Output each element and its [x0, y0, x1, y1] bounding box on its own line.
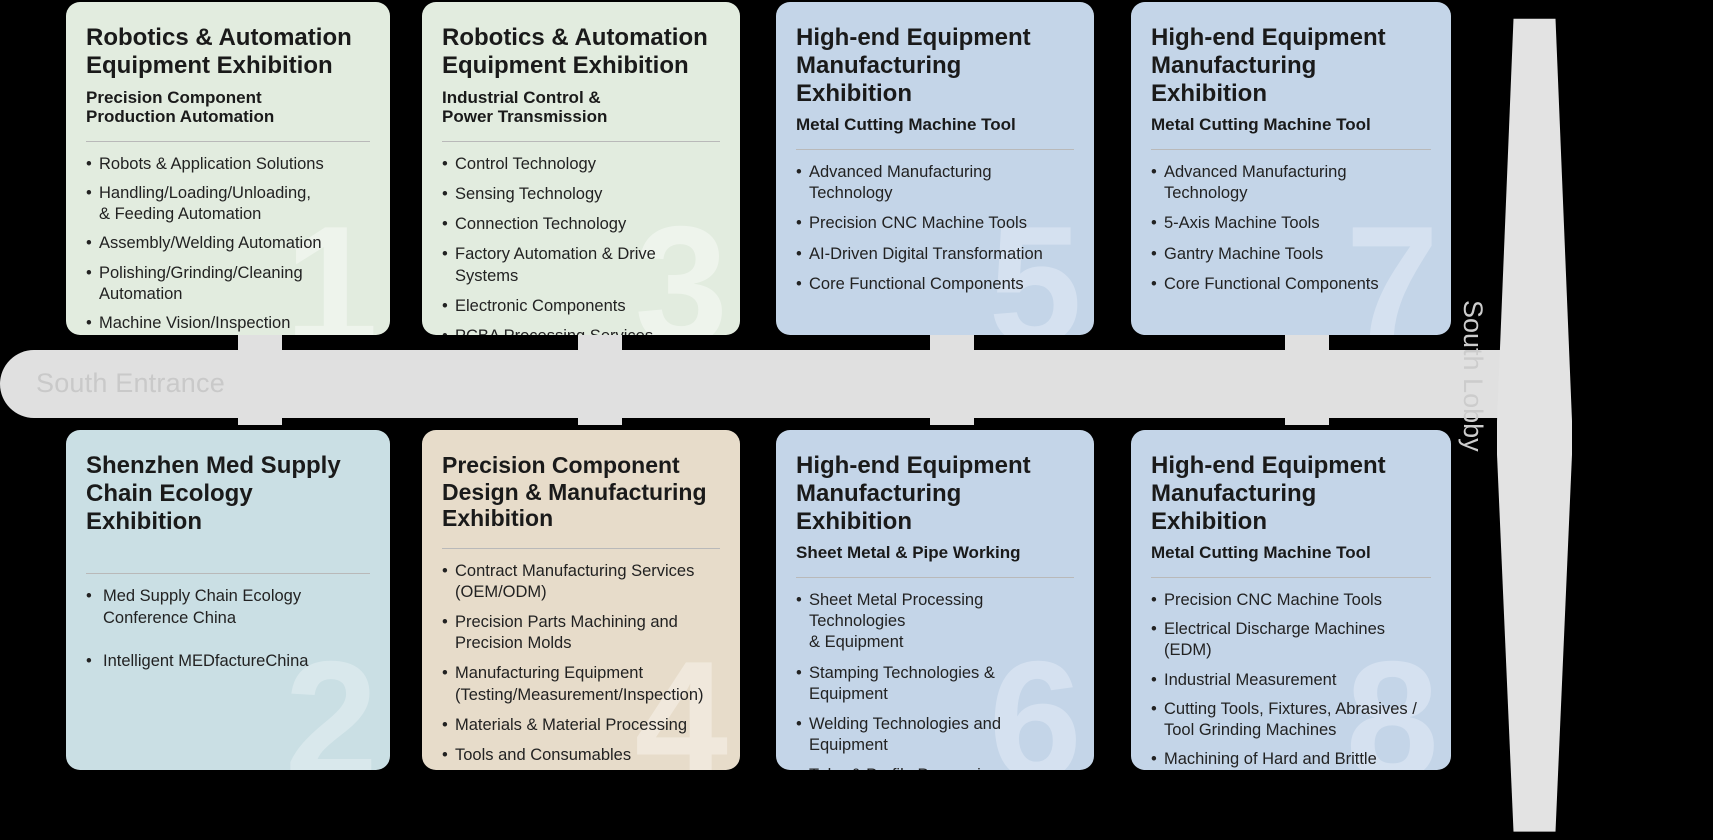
hall-title: Robotics & Automation Equipment Exhibiti…: [442, 24, 720, 80]
list-item: Manufacturing Equipment (Testing/Measure…: [442, 663, 720, 705]
hall-card-3[interactable]: 3 Robotics & Automation Equipment Exhibi…: [422, 2, 740, 335]
list-item: Robots & Application Solutions: [86, 154, 370, 175]
list-item: Electrical Discharge Machines (EDM): [1151, 619, 1431, 661]
hall-title: High-end Equipment Manufacturing Exhibit…: [1151, 24, 1431, 107]
list-item: Control Technology: [442, 154, 720, 175]
hall-card-8[interactable]: 8 High-end Equipment Manufacturing Exhib…: [1131, 430, 1451, 770]
hall-card-6[interactable]: 6 High-end Equipment Manufacturing Exhib…: [776, 430, 1094, 770]
list-item: Industrial Measurement: [1151, 670, 1431, 691]
list-item: Precision Parts Machining and Precision …: [442, 612, 720, 654]
list-item: Advanced Manufacturing Technology: [796, 162, 1074, 204]
list-item: AI-Driven Digital Transformation: [796, 244, 1074, 265]
south-lobby-label: South Lobby: [1457, 300, 1488, 500]
hall-topic-list: Precision CNC Machine Tools Electrical D…: [1151, 590, 1431, 770]
list-item: Polishing/Grinding/Cleaning Automation: [86, 263, 370, 305]
divider: [1151, 149, 1431, 150]
divider: [86, 573, 370, 574]
list-item: Assembly/Welding Automation: [86, 233, 370, 254]
hall-card-1[interactable]: 1 Robotics & Automation Equipment Exhibi…: [66, 2, 390, 335]
list-item: 5-Axis Machine Tools: [1151, 213, 1431, 234]
list-item: Materials & Material Processing: [442, 715, 720, 736]
hall-subtitle: Industrial Control & Power Transmission: [442, 88, 720, 127]
list-item: Tube & Profile Processing: [796, 765, 1074, 770]
hall-card-7[interactable]: 7 High-end Equipment Manufacturing Exhib…: [1131, 2, 1451, 335]
hall-card-2[interactable]: 2 Shenzhen Med Supply Chain Ecology Exhi…: [66, 430, 390, 770]
list-item: Core Functional Components: [1151, 274, 1431, 295]
hall-subtitle: Sheet Metal & Pipe Working: [796, 543, 1074, 563]
hall-topic-list: Med Supply Chain Ecology Conference Chin…: [86, 586, 370, 671]
list-item: Contract Manufacturing Services (OEM/ODM…: [442, 561, 720, 603]
hall-topic-list: Sheet Metal Processing Technologies & Eq…: [796, 590, 1074, 770]
list-item: Electronic Components: [442, 296, 720, 317]
hall-subtitle: Metal Cutting Machine Tool: [1151, 115, 1431, 135]
divider: [796, 149, 1074, 150]
south-entrance-label: South Entrance: [36, 368, 225, 399]
list-item: PCBA Processing Services: [442, 326, 720, 335]
list-item: Handling/Loading/Unloading, & Feeding Au…: [86, 183, 370, 225]
list-item: Factory Automation & Drive Systems: [442, 244, 720, 286]
list-item: Sheet Metal Processing Technologies & Eq…: [796, 590, 1074, 653]
hall-subtitle: Precision Component Production Automatio…: [86, 88, 370, 127]
hall-title: Shenzhen Med Supply Chain Ecology Exhibi…: [86, 452, 370, 535]
hall-topic-list: Advanced Manufacturing Technology Precis…: [796, 162, 1074, 295]
divider: [1151, 577, 1431, 578]
hall-subtitle: Metal Cutting Machine Tool: [1151, 543, 1431, 563]
south-lobby-area: [1497, 2, 1572, 840]
list-item: Stamping Technologies & Equipment: [796, 663, 1074, 705]
divider: [442, 548, 720, 549]
divider: [442, 141, 720, 142]
hall-title: Robotics & Automation Equipment Exhibiti…: [86, 24, 370, 80]
list-item: Machine Vision/Inspection Equipment: [86, 313, 370, 335]
list-item: Precision CNC Machine Tools: [796, 213, 1074, 234]
list-item: Advanced Manufacturing Technology: [1151, 162, 1431, 204]
list-item: Intelligent MEDfactureChina: [86, 651, 370, 672]
list-item: Connection Technology: [442, 214, 720, 235]
hall-title: High-end Equipment Manufacturing Exhibit…: [796, 24, 1074, 107]
hall-title: Precision Component Design & Manufacturi…: [442, 452, 720, 532]
list-item: Welding Technologies and Equipment: [796, 714, 1074, 756]
list-item: Core Functional Components: [796, 274, 1074, 295]
list-item: Precision CNC Machine Tools: [1151, 590, 1431, 611]
hall-title: High-end Equipment Manufacturing Exhibit…: [796, 452, 1074, 535]
hall-title: High-end Equipment Manufacturing Exhibit…: [1151, 452, 1431, 535]
list-item: Med Supply Chain Ecology Conference Chin…: [86, 586, 370, 628]
hall-topic-list: Contract Manufacturing Services (OEM/ODM…: [442, 561, 720, 770]
list-item: Tools and Consumables: [442, 745, 720, 766]
hall-topic-list: Control Technology Sensing Technology Co…: [442, 154, 720, 335]
hall-subtitle: Metal Cutting Machine Tool: [796, 115, 1074, 135]
list-item: Sensing Technology: [442, 184, 720, 205]
list-item: Cutting Tools, Fixtures, Abrasives / Too…: [1151, 699, 1431, 741]
divider: [86, 141, 370, 142]
hall-card-4[interactable]: 4 Precision Component Design & Manufactu…: [422, 430, 740, 770]
hall-topic-list: Advanced Manufacturing Technology 5-Axis…: [1151, 162, 1431, 295]
hall-topic-list: Robots & Application Solutions Handling/…: [86, 154, 370, 335]
list-item: Gantry Machine Tools: [1151, 244, 1431, 265]
divider: [796, 577, 1074, 578]
list-item: Machining of Hard and Brittle Materials: [1151, 749, 1431, 770]
hall-card-5[interactable]: 5 High-end Equipment Manufacturing Exhib…: [776, 2, 1094, 335]
